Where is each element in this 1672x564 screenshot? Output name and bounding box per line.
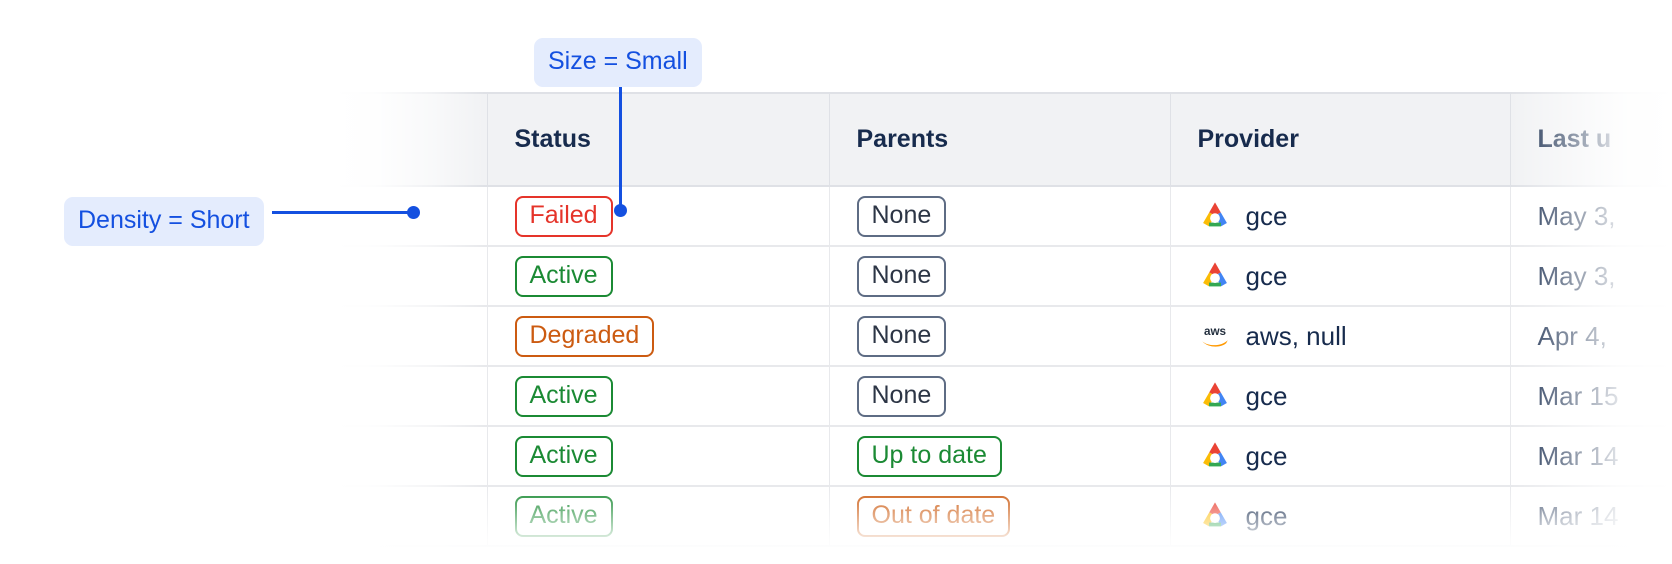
provider-cell: gce xyxy=(1198,260,1510,292)
cell-parents: Out of date xyxy=(829,486,1170,546)
screenshot-stage: tion Status Parents Provider Last u Fail… xyxy=(0,0,1672,564)
gcp-cloud-icon xyxy=(1198,440,1232,472)
column-header-description[interactable]: tion xyxy=(310,93,487,186)
provider-label: gce xyxy=(1246,201,1288,232)
cell-last-updated: May 3, xyxy=(1510,186,1672,246)
cell-parents: None xyxy=(829,306,1170,366)
cell-status: Active xyxy=(487,246,829,306)
provider-label: gce xyxy=(1246,381,1288,412)
cell-provider: gce xyxy=(1170,486,1510,546)
density-callout-line xyxy=(272,211,418,214)
size-callout-line xyxy=(619,74,622,210)
status-badge: Degraded xyxy=(515,316,655,357)
table-body: FailedNonegceMay 3,ActiveNonegceMay 3,De… xyxy=(310,186,1672,546)
status-badge: Active xyxy=(515,376,613,417)
cell-parents: Up to date xyxy=(829,426,1170,486)
cell-description xyxy=(310,186,487,246)
table-row[interactable]: DegradedNoneawsaws, nullApr 4, xyxy=(310,306,1672,366)
aws-icon: aws xyxy=(1198,320,1232,352)
status-badge: Active xyxy=(515,496,613,537)
gcp-cloud-icon xyxy=(1198,260,1232,292)
table-row[interactable]: ActiveNonegceMay 3, xyxy=(310,246,1672,306)
parents-badge: Out of date xyxy=(857,496,1011,537)
provider-label: gce xyxy=(1246,261,1288,292)
parents-badge: None xyxy=(857,256,947,297)
table-header-row: tion Status Parents Provider Last u xyxy=(310,93,1672,186)
cell-last-updated: Mar 14 xyxy=(1510,486,1672,546)
column-header-last-updated[interactable]: Last u xyxy=(1510,93,1672,186)
cell-parents: None xyxy=(829,246,1170,306)
table-header: tion Status Parents Provider Last u xyxy=(310,93,1672,186)
cell-status: Degraded xyxy=(487,306,829,366)
cell-status: Active xyxy=(487,426,829,486)
cell-status: Active xyxy=(487,366,829,426)
cell-parents: None xyxy=(829,186,1170,246)
density-callout-label: Density = Short xyxy=(64,197,264,246)
resources-table: tion Status Parents Provider Last u Fail… xyxy=(310,92,1672,547)
status-badge: Active xyxy=(515,436,613,477)
provider-cell: awsaws, null xyxy=(1198,320,1510,352)
cell-provider: gce xyxy=(1170,186,1510,246)
cell-last-updated: Mar 14 xyxy=(1510,426,1672,486)
provider-cell: gce xyxy=(1198,500,1510,532)
column-header-provider[interactable]: Provider xyxy=(1170,93,1510,186)
column-header-parents[interactable]: Parents xyxy=(829,93,1170,186)
provider-label: aws, null xyxy=(1246,321,1347,352)
parents-badge: None xyxy=(857,316,947,357)
cell-provider: gce xyxy=(1170,246,1510,306)
cell-provider: awsaws, null xyxy=(1170,306,1510,366)
provider-cell: gce xyxy=(1198,200,1510,232)
cell-description xyxy=(310,486,487,546)
cell-provider: gce xyxy=(1170,426,1510,486)
size-callout-label: Size = Small xyxy=(534,38,702,87)
column-header-status[interactable]: Status xyxy=(487,93,829,186)
provider-cell: gce xyxy=(1198,380,1510,412)
cell-last-updated: Mar 15 xyxy=(1510,366,1672,426)
gcp-cloud-icon xyxy=(1198,380,1232,412)
table-row[interactable]: ActiveUp to dategceMar 14 xyxy=(310,426,1672,486)
cell-description xyxy=(310,246,487,306)
density-callout-dot xyxy=(407,206,420,219)
gcp-cloud-icon xyxy=(1198,200,1232,232)
provider-label: gce xyxy=(1246,501,1288,532)
cell-status: Active xyxy=(487,486,829,546)
parents-badge: None xyxy=(857,196,947,237)
gcp-cloud-icon xyxy=(1198,500,1232,532)
cell-status: Failed xyxy=(487,186,829,246)
provider-cell: gce xyxy=(1198,440,1510,472)
status-badge: Failed xyxy=(515,196,613,237)
size-callout-dot xyxy=(614,204,627,217)
table-row[interactable]: FailedNonegceMay 3, xyxy=(310,186,1672,246)
svg-text:aws: aws xyxy=(1203,325,1226,338)
cell-parents: None xyxy=(829,366,1170,426)
parents-badge: None xyxy=(857,376,947,417)
provider-label: gce xyxy=(1246,441,1288,472)
cell-description xyxy=(310,306,487,366)
cell-last-updated: Apr 4, xyxy=(1510,306,1672,366)
parents-badge: Up to date xyxy=(857,436,1002,477)
status-badge: Active xyxy=(515,256,613,297)
cell-description xyxy=(310,426,487,486)
cell-last-updated: May 3, xyxy=(1510,246,1672,306)
table-row[interactable]: ActiveOut of dategceMar 14 xyxy=(310,486,1672,546)
resources-table-container: tion Status Parents Provider Last u Fail… xyxy=(310,92,1672,564)
cell-provider: gce xyxy=(1170,366,1510,426)
table-row[interactable]: ActiveNonegceMar 15 xyxy=(310,366,1672,426)
cell-description xyxy=(310,366,487,426)
